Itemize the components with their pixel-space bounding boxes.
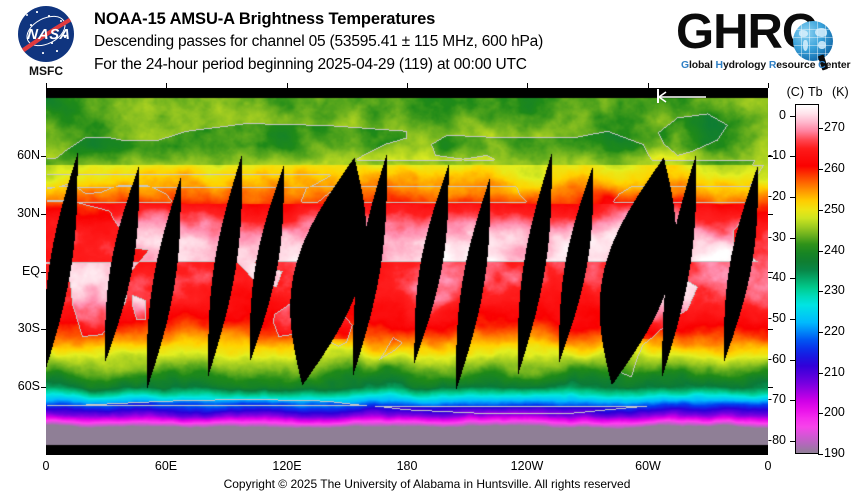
map-lon-label: 180 bbox=[377, 459, 437, 473]
ghrc-sub-ydrology: ydrology bbox=[723, 60, 769, 71]
colorbar-label-celsius: 0 bbox=[756, 108, 786, 122]
copyright-notice: Copyright © 2025 The University of Alaba… bbox=[0, 477, 854, 491]
colorbar-label-celsius: -50 bbox=[756, 311, 786, 325]
map-lon-tick-top bbox=[768, 83, 769, 88]
colorbar-tick-kelvin bbox=[818, 332, 823, 333]
map-lon-tick-top bbox=[648, 83, 649, 88]
title-block: NOAA-15 AMSU-A Brightness Temperatures D… bbox=[94, 9, 543, 76]
colorbar-label-kelvin: 270 bbox=[824, 120, 854, 134]
ghrc-sub-c: C bbox=[818, 60, 825, 71]
colorbar-tick-kelvin bbox=[818, 251, 823, 252]
map-lat-tick-right bbox=[768, 387, 773, 388]
map-lat-label: EQ bbox=[0, 264, 40, 278]
page-title: NOAA-15 AMSU-A Brightness Temperatures bbox=[94, 9, 543, 30]
colorbar-label-celsius: -20 bbox=[756, 189, 786, 203]
ghrc-sub-lobal: lobal bbox=[689, 60, 716, 71]
ghrc-sub-enter: enter bbox=[826, 60, 851, 71]
colorbar-tick-kelvin bbox=[818, 291, 823, 292]
colorbar-gradient bbox=[796, 105, 818, 453]
map-lat-tick bbox=[41, 272, 46, 273]
colorbar-label-celsius: -10 bbox=[756, 148, 786, 162]
map-lon-tick-top bbox=[287, 83, 288, 88]
colorbar-tick-celsius bbox=[790, 360, 795, 361]
map-lat-tick bbox=[41, 387, 46, 388]
colorbar-tick-celsius bbox=[790, 441, 795, 442]
colorbar-tick-kelvin bbox=[818, 413, 823, 414]
ghrc-subtitle: Global Hydrology Resource Center bbox=[681, 60, 851, 71]
map-lat-tick-right bbox=[768, 329, 773, 330]
colorbar-tick-kelvin bbox=[818, 373, 823, 374]
colorbar-tick-celsius bbox=[790, 400, 795, 401]
map-lon-label: 120W bbox=[497, 459, 557, 473]
colorbar-tick-kelvin bbox=[818, 128, 823, 129]
nasa-center-label: MSFC bbox=[13, 64, 79, 78]
brightness-temperature-map[interactable] bbox=[46, 88, 768, 455]
map-lat-tick bbox=[41, 329, 46, 330]
ghrc-sub-esource: esource bbox=[776, 60, 818, 71]
colorbar bbox=[795, 104, 819, 454]
colorbar-tick-kelvin bbox=[818, 210, 823, 211]
colorbar-label-kelvin: 190 bbox=[824, 446, 854, 460]
colorbar-label-celsius: -80 bbox=[756, 433, 786, 447]
colorbar-label-kelvin: 220 bbox=[824, 324, 854, 338]
colorbar-unit-kelvin: (K) bbox=[832, 85, 849, 99]
colorbar-label-kelvin: 260 bbox=[824, 161, 854, 175]
colorbar-tick-celsius bbox=[790, 116, 795, 117]
colorbar-tick-celsius bbox=[790, 238, 795, 239]
map-lat-tick bbox=[41, 214, 46, 215]
map-lat-label: 60N bbox=[0, 148, 40, 162]
map-lat-label: 60S bbox=[0, 379, 40, 393]
colorbar-unit-celsius: (C) bbox=[770, 85, 804, 99]
colorbar-label-kelvin: 240 bbox=[824, 243, 854, 257]
colorbar-unit-tb: Tb bbox=[808, 85, 823, 99]
map-lon-label: 60E bbox=[136, 459, 196, 473]
colorbar-tick-celsius bbox=[790, 156, 795, 157]
ghrc-sub-g: G bbox=[681, 60, 689, 71]
map-lat-tick bbox=[41, 156, 46, 157]
colorbar-tick-kelvin bbox=[818, 169, 823, 170]
map-lon-tick-top bbox=[166, 83, 167, 88]
title-subtitle-period: For the 24-hour period beginning 2025-04… bbox=[94, 53, 543, 76]
map-lat-label: 30N bbox=[0, 206, 40, 220]
map-lat-label: 30S bbox=[0, 321, 40, 335]
colorbar-tick-celsius bbox=[790, 278, 795, 279]
ghrc-logo: GHRC Global Hydrology Resource Center bbox=[676, 8, 848, 74]
map-lon-tick-top bbox=[46, 83, 47, 88]
colorbar-label-celsius: -30 bbox=[756, 230, 786, 244]
map-raster bbox=[46, 88, 768, 455]
colorbar-tick-kelvin bbox=[818, 454, 823, 455]
title-subtitle-channel: Descending passes for channel 05 (53595.… bbox=[94, 30, 543, 53]
nasa-msfc-logo: NASA MSFC bbox=[13, 6, 79, 80]
ghrc-sub-h: H bbox=[716, 60, 723, 71]
nasa-wordmark: NASA bbox=[23, 27, 74, 43]
map-lon-label: 120E bbox=[257, 459, 317, 473]
colorbar-label-kelvin: 250 bbox=[824, 202, 854, 216]
colorbar-label-celsius: -40 bbox=[756, 270, 786, 284]
map-lon-tick-top bbox=[527, 83, 528, 88]
colorbar-label-celsius: -70 bbox=[756, 392, 786, 406]
nasa-meatball-icon: NASA bbox=[18, 6, 74, 62]
page-header: NASA MSFC NOAA-15 AMSU-A Brightness Temp… bbox=[0, 0, 854, 86]
colorbar-label-kelvin: 210 bbox=[824, 365, 854, 379]
map-lon-label: 0 bbox=[16, 459, 76, 473]
map-lon-tick-top bbox=[407, 83, 408, 88]
map-lon-label: 0 bbox=[738, 459, 798, 473]
ghrc-globe-icon bbox=[793, 21, 833, 61]
colorbar-label-celsius: -60 bbox=[756, 352, 786, 366]
colorbar-label-kelvin: 230 bbox=[824, 283, 854, 297]
map-lon-label: 60W bbox=[618, 459, 678, 473]
colorbar-label-kelvin: 200 bbox=[824, 405, 854, 419]
colorbar-tick-celsius bbox=[790, 319, 795, 320]
colorbar-tick-celsius bbox=[790, 197, 795, 198]
map-lat-tick-right bbox=[768, 214, 773, 215]
